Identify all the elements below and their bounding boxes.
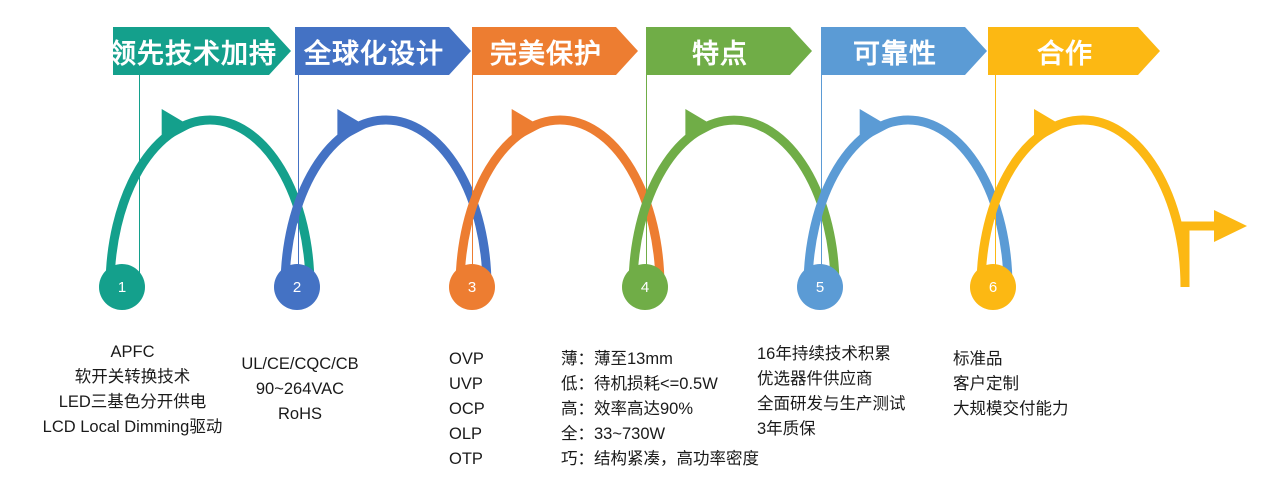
step-number: 5	[816, 279, 824, 296]
detail-line: 90~264VAC	[210, 377, 390, 402]
detail-line: 大规模交付能力	[953, 397, 1153, 422]
banner-step-4[interactable]: 特点	[646, 27, 812, 75]
detail-line: OVP	[449, 347, 569, 372]
step-circle-5[interactable]: 5	[797, 264, 843, 310]
step-number: 4	[641, 279, 649, 296]
step-number: 1	[118, 279, 126, 296]
arrow-head	[162, 109, 192, 143]
detail-line: OLP	[449, 422, 569, 447]
arc-arrow-2	[285, 109, 487, 287]
banner-label: 领先技术加持	[109, 32, 277, 71]
banner-step-6[interactable]: 合作	[988, 27, 1160, 75]
banner-step-1[interactable]: 领先技术加持	[113, 27, 291, 75]
banner-label: 可靠性	[853, 32, 937, 71]
step-circle-2[interactable]: 2	[274, 264, 320, 310]
stem-line-step-1	[139, 75, 140, 287]
detail-line: OCP	[449, 397, 569, 422]
detail-line: 16年持续技术积累	[757, 342, 957, 367]
banner-step-5[interactable]: 可靠性	[821, 27, 987, 75]
step-number: 2	[293, 279, 301, 296]
detail-text-step-5: 16年持续技术积累优选器件供应商全面研发与生产测试3年质保	[757, 342, 957, 442]
step-circle-4[interactable]: 4	[622, 264, 668, 310]
step-circle-6[interactable]: 6	[970, 264, 1016, 310]
detail-line: 3年质保	[757, 417, 957, 442]
detail-line: RoHS	[210, 402, 390, 427]
banner-step-2[interactable]: 全球化设计	[295, 27, 471, 75]
arrow-head	[1034, 109, 1064, 143]
detail-line: OTP	[449, 447, 569, 472]
detail-line: UL/CE/CQC/CB	[210, 352, 390, 377]
detail-text-step-6: 标准品客户定制大规模交付能力	[953, 347, 1153, 422]
arrow-head	[512, 109, 542, 143]
step-number: 3	[468, 279, 476, 296]
banner-label: 特点	[692, 32, 748, 71]
detail-text-step-2: UL/CE/CQC/CB90~264VACRoHS	[210, 352, 390, 427]
arrow-head	[337, 109, 367, 143]
step-circle-3[interactable]: 3	[449, 264, 495, 310]
arrow-head	[685, 109, 715, 143]
detail-line: 优选器件供应商	[757, 367, 957, 392]
arrow-head	[860, 109, 890, 143]
stem-line-step-6	[995, 75, 996, 287]
final-arrow-head	[1214, 210, 1247, 242]
arc-arrow-1	[110, 109, 310, 287]
banner-label: 完美保护	[490, 32, 602, 71]
detail-line: 客户定制	[953, 372, 1153, 397]
detail-line: 巧：结构紧凑，高功率密度	[561, 447, 791, 472]
step-number: 6	[989, 279, 997, 296]
step-circle-1[interactable]: 1	[99, 264, 145, 310]
detail-line: 标准品	[953, 347, 1153, 372]
stem-line-step-3	[472, 75, 473, 287]
stem-line-step-2	[298, 75, 299, 287]
detail-line: 全面研发与生产测试	[757, 392, 957, 417]
banner-label: 全球化设计	[304, 32, 444, 71]
detail-line: UVP	[449, 372, 569, 397]
banner-label: 合作	[1037, 32, 1093, 71]
arc-arrow-4	[633, 109, 835, 287]
stem-line-step-4	[646, 75, 647, 287]
infographic-canvas: 领先技术加持全球化设计完美保护特点可靠性合作 123456 APFC软开关转换技…	[0, 0, 1280, 478]
banner-step-3[interactable]: 完美保护	[472, 27, 638, 75]
final-arrow	[1185, 210, 1247, 287]
detail-text-step-3: OVPUVPOCPOLPOTP	[449, 347, 569, 472]
arc-arrow-6	[981, 109, 1185, 287]
stem-line-step-5	[821, 75, 822, 287]
